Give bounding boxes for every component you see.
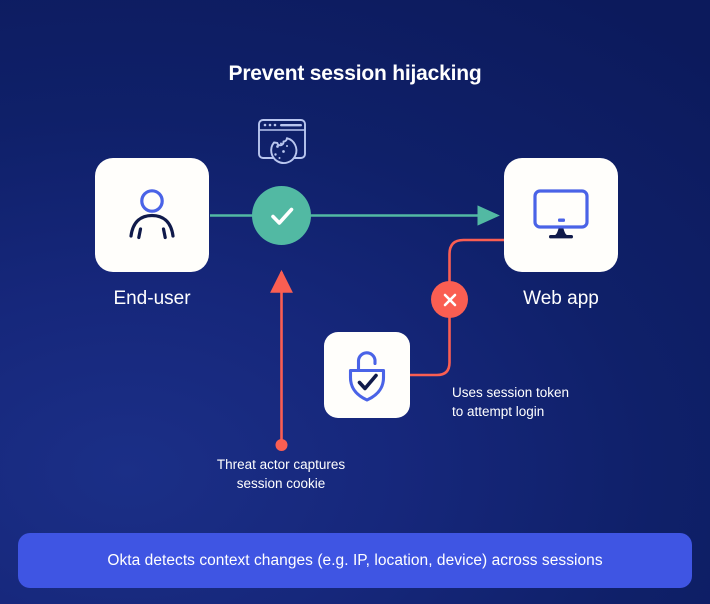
node-label-webapp: Web app (461, 288, 661, 310)
node-label-enduser: End-user (52, 288, 252, 310)
unlocked-shield-check-icon (342, 347, 392, 403)
node-card-enduser[interactable] (95, 158, 209, 272)
diagram-canvas: Prevent session hijacking (0, 0, 710, 604)
node-card-webapp[interactable] (504, 158, 618, 272)
caption-session-token-line1: Uses session token (452, 383, 642, 402)
caption-threat-actor: Threat actor captures session cookie (181, 455, 381, 493)
check-circle-icon (252, 186, 311, 245)
browser-cookie-icon (252, 116, 312, 170)
flow-cookie-capture-origin-dot (276, 439, 288, 451)
summary-banner: Okta detects context changes (e.g. IP, l… (18, 533, 692, 588)
caption-session-token: Uses session token to attempt login (452, 383, 642, 421)
x-circle-icon (431, 281, 468, 318)
caption-threat-actor-line2: session cookie (181, 474, 381, 493)
summary-banner-text: Okta detects context changes (e.g. IP, l… (107, 552, 602, 570)
monitor-icon (528, 184, 594, 246)
node-card-threat-actor[interactable] (324, 332, 410, 418)
caption-threat-actor-line1: Threat actor captures (181, 455, 381, 474)
check-glyph (266, 200, 298, 232)
x-glyph (440, 290, 460, 310)
user-icon (119, 182, 185, 248)
caption-session-token-line2: to attempt login (452, 402, 642, 421)
